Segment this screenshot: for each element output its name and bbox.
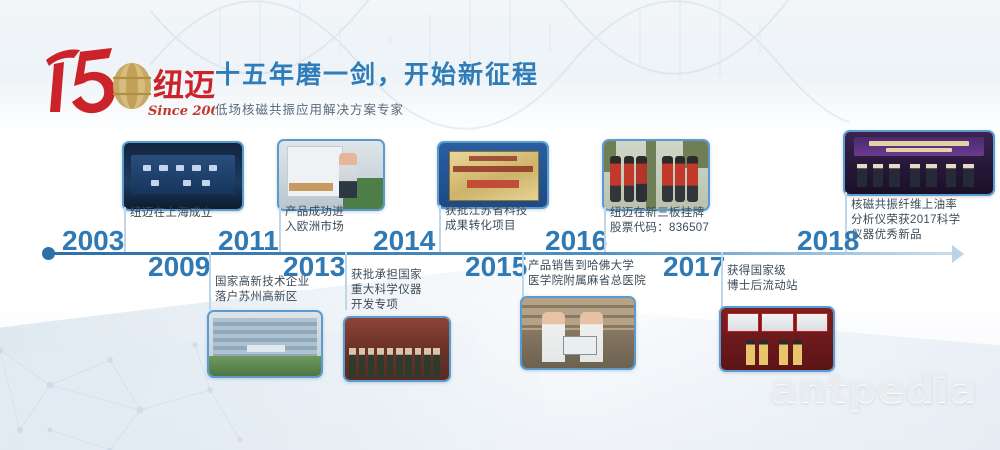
caption-stock-line2: 股票代码：836507	[610, 221, 709, 236]
caption-2013-line1: 获批承担国家	[351, 268, 422, 283]
photo-exhibition-booth[interactable]	[277, 139, 385, 211]
antpedia-watermark: antpedia	[770, 366, 978, 412]
photo-lab-laptop[interactable]	[520, 296, 636, 370]
timeline-start-dot	[42, 247, 55, 260]
caption-2013-line2: 重大科学仪器	[351, 283, 422, 298]
photo-office-building[interactable]	[207, 310, 323, 378]
caption-2014-line1: 产品成功进	[285, 205, 344, 220]
caption-2017-line2: 博士后流动站	[727, 279, 798, 294]
infographic-canvas: 纽迈 Since 2003 十五年磨一剑，开始新征程 低场核磁共振应用解决方案专…	[0, 0, 1000, 450]
caption-2009-line2: 落户苏州高新区	[215, 290, 298, 305]
caption-2015-line2: 医学院附属麻省总医院	[528, 274, 646, 289]
photo-night-building[interactable]	[122, 141, 244, 211]
year-label-2014: 2014	[373, 227, 435, 255]
year-label-2017: 2017	[663, 253, 725, 281]
photo-group-outdoor[interactable]	[602, 139, 710, 211]
caption-2013-line3: 开发专项	[351, 298, 398, 313]
caption-2018-line1: 核磁共振纤维上油率	[851, 198, 957, 213]
caption-2017-line1: 获得国家级	[727, 264, 786, 279]
photo-red-award-stage[interactable]	[719, 306, 835, 372]
tick-2009	[209, 252, 211, 310]
tick-2017	[721, 252, 723, 308]
caption-2016-line2: 成果转化项目	[445, 219, 516, 234]
caption-2016-line1: 获批江苏省科技	[445, 204, 528, 219]
caption-2011: 纽迈在上海成立	[130, 206, 213, 221]
tick-2015	[522, 252, 524, 300]
tick-2014	[279, 207, 281, 252]
photo-conference-group[interactable]	[343, 316, 451, 382]
page-subtitle: 低场核磁共振应用解决方案专家	[215, 99, 539, 118]
caption-stock-line1: 纽迈在新三板挂牌	[610, 206, 704, 221]
tick-stock-listing	[604, 207, 606, 252]
caption-2015-line1: 产品销售到哈佛大学	[528, 259, 634, 274]
caption-2014-line2: 入欧洲市场	[285, 220, 344, 235]
year-label-2011: 2011	[218, 227, 279, 255]
logo-since-text: Since 2003	[148, 104, 215, 119]
caption-2018-line2: 分析仪荣获2017科学	[851, 213, 960, 228]
year-label-2013: 2013	[283, 253, 345, 281]
page-title: 十五年磨一剑，开始新征程	[215, 58, 539, 92]
caption-2018-line3: 仪器优秀新品	[851, 228, 922, 243]
logo-brand-text: 纽迈	[153, 68, 215, 104]
tick-2011	[124, 207, 126, 252]
photo-gold-plaque[interactable]	[437, 141, 549, 209]
year-label-2015: 2015	[465, 253, 527, 281]
tick-2016	[439, 205, 441, 252]
year-label-2009: 2009	[148, 253, 210, 281]
company-logo: 纽迈 Since 2003	[40, 42, 215, 122]
year-label-2003: 2003	[62, 227, 124, 255]
photo-award-ceremony[interactable]	[843, 130, 995, 196]
tick-2013	[345, 252, 347, 310]
header-text-block: 十五年磨一剑，开始新征程 低场核磁共振应用解决方案专家	[215, 58, 539, 118]
year-label-2018: 2018	[797, 227, 859, 255]
timeline-end-arrow	[952, 245, 964, 263]
year-label-2016: 2016	[545, 227, 607, 255]
